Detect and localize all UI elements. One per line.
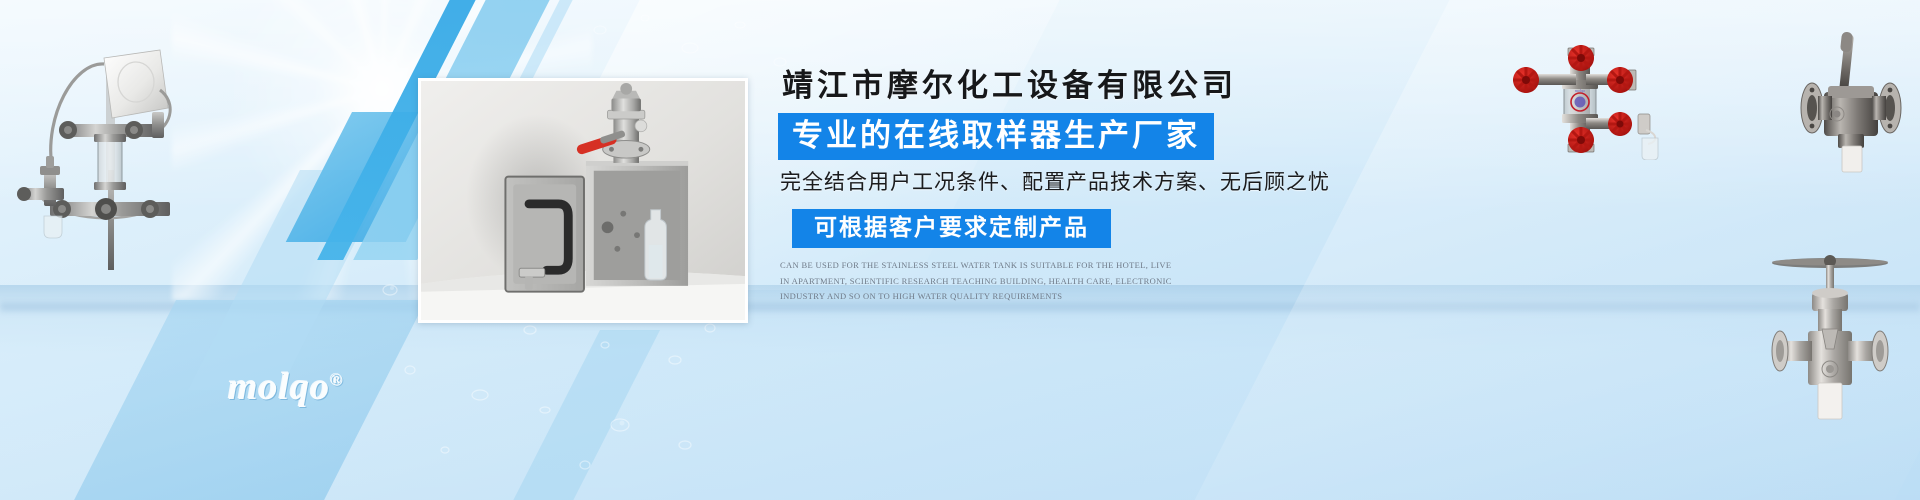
product-flanged-handwheel-sampling-valve [1760, 245, 1900, 420]
product-flanged-lever-valve [1790, 30, 1915, 180]
registered-trademark-icon: ® [330, 370, 344, 389]
secondary-headline-badge: 可根据客户要求定制产品 [792, 209, 1111, 248]
brand-watermark: molqo® [228, 365, 344, 409]
headline-text-block: 靖江市摩尔化工设备有限公司 专业的在线取样器生产厂家 完全结合用户工况条件、配置… [778, 70, 1398, 305]
primary-headline-badge: 专业的在线取样器生产厂家 [778, 113, 1214, 160]
product-sampler-assembly-with-enclosure [0, 20, 200, 270]
product-photo-cabinet-sampler [418, 78, 748, 323]
subheadline-text: 完全结合用户工况条件、配置产品技术方案、无后顾之忧 [780, 172, 1398, 193]
product-cross-valve-sight-glass-sampler: molqo [1496, 40, 1686, 160]
svg-text:molqo: molqo [1575, 88, 1585, 93]
watermark-text: molqo [228, 366, 330, 408]
company-name: 靖江市摩尔化工设备有限公司 [782, 70, 1398, 101]
promotional-banner: molqo [0, 0, 1920, 500]
english-description-text: CAN BE USED FOR THE STAINLESS STEEL WATE… [780, 258, 1180, 305]
